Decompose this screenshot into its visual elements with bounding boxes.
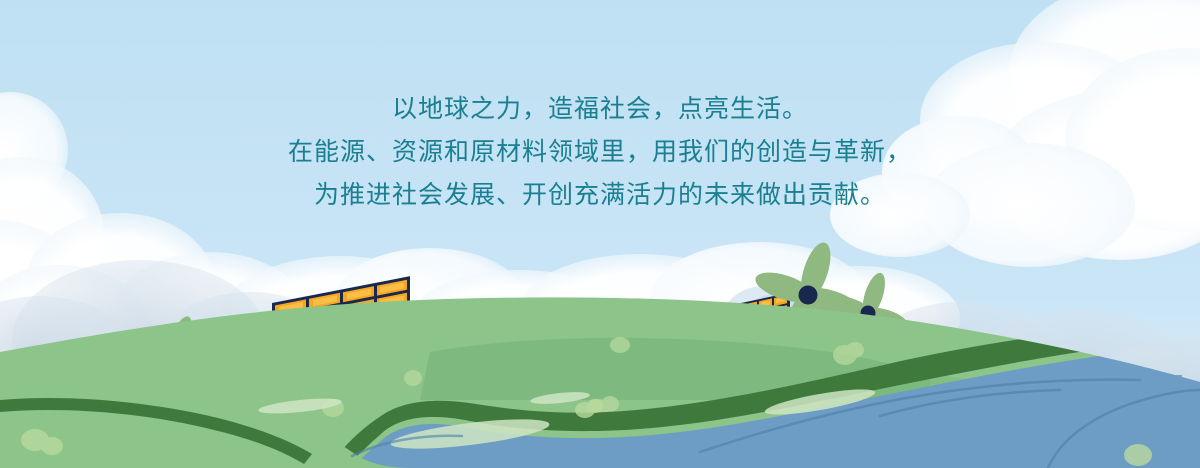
scene-canvas: [0, 0, 1200, 468]
eco-banner-illustration: 以地球之力，造福社会，点亮生活。 在能源、资源和原材料领域里，用我们的创造与革新…: [0, 0, 1200, 468]
